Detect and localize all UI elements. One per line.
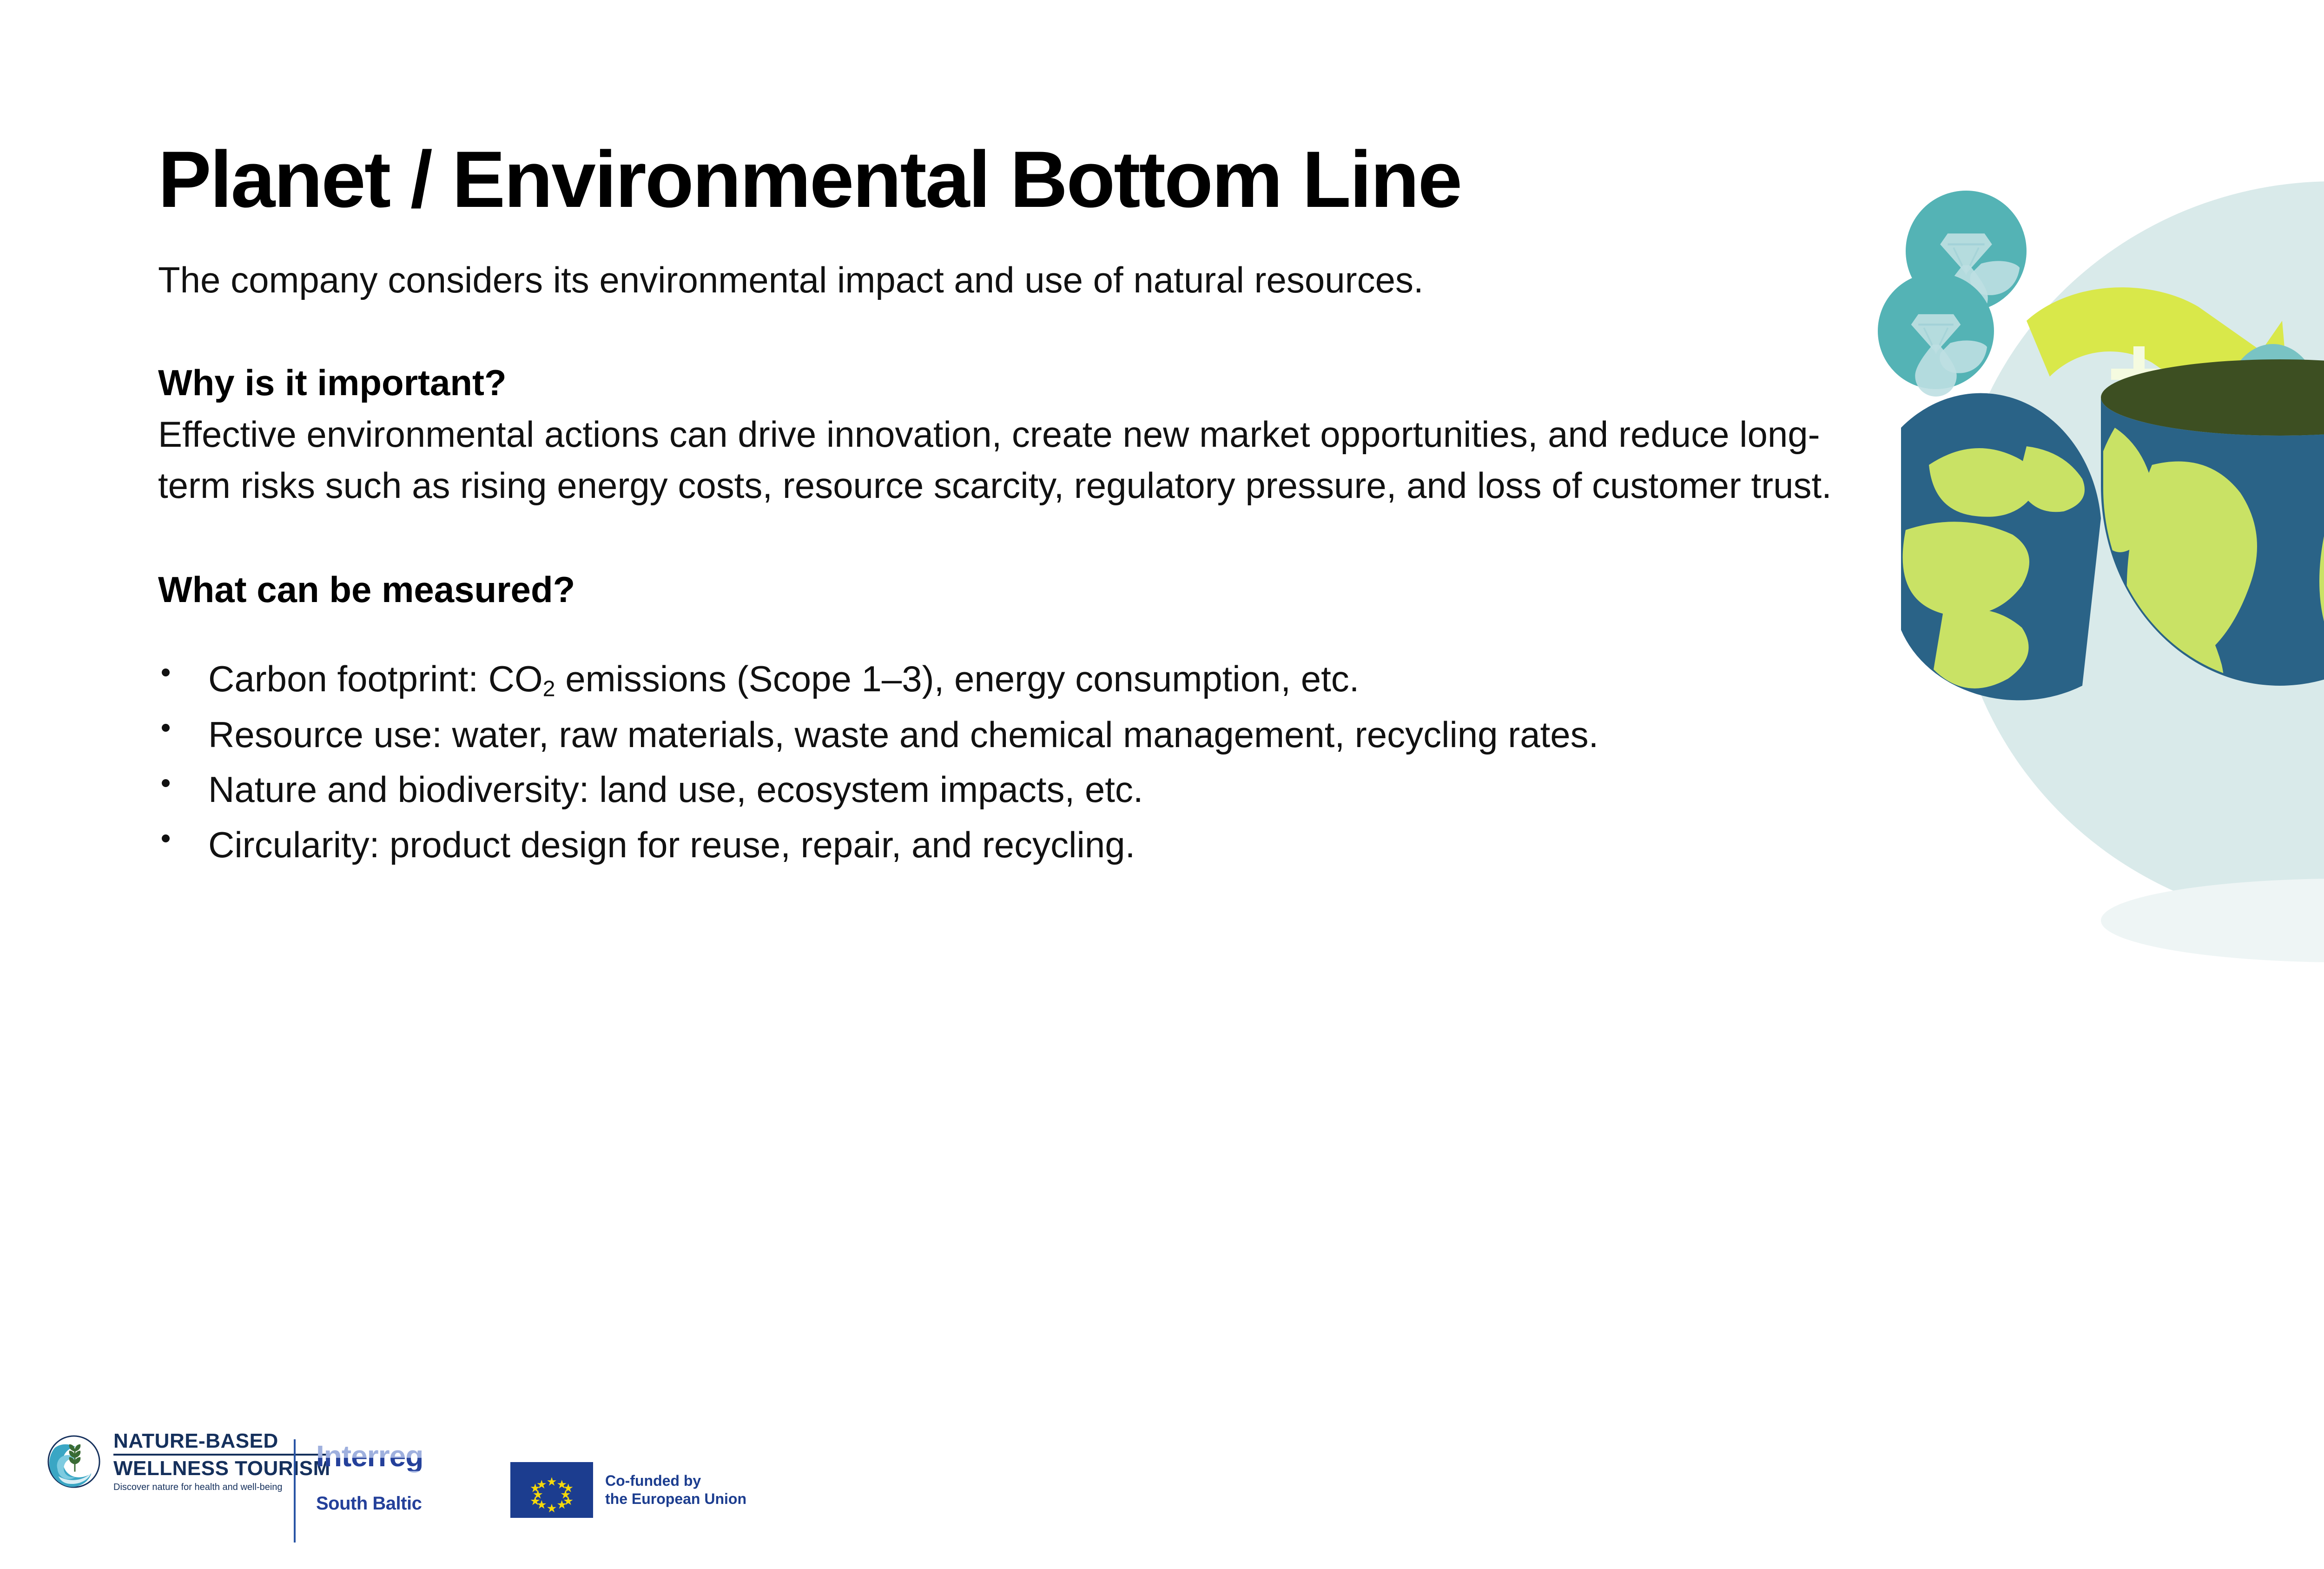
wave-leaf-logo-icon <box>46 1434 101 1489</box>
eu-text-line-1: Co-funded by <box>605 1472 746 1490</box>
bullet-dot-icon <box>162 724 170 732</box>
interreg-wordmark: Interreg Interreg <box>316 1441 469 1474</box>
section-heading-why: Why is it important? <box>158 359 1855 406</box>
bullet-dot-icon <box>162 834 170 842</box>
nbwt-tagline: Discover nature for health and well-bein… <box>113 1483 330 1492</box>
slide-text-column: Planet / Environmental Bottom Line The c… <box>158 139 1855 874</box>
page-title: Planet / Environmental Bottom Line <box>158 139 1855 219</box>
measures-list: Carbon footprint: CO2 emissions (Scope 1… <box>158 653 1855 871</box>
eu-text-line-2: the European Union <box>605 1490 746 1508</box>
eu-cofunding-text: Co-funded by the European Union <box>605 1472 746 1508</box>
bullet-text: Resource use: water, raw materials, wast… <box>208 714 1598 755</box>
interreg-programme-name: South Baltic <box>316 1493 469 1514</box>
eu-flag-icon <box>510 1462 593 1518</box>
bullet-text: Nature and biodiversity: land use, ecosy… <box>208 769 1143 810</box>
list-item: Circularity: product design for reuse, r… <box>158 819 1855 871</box>
nbwt-line-2: WELLNESS TOURISM <box>113 1458 330 1479</box>
bullet-dot-icon <box>162 669 170 676</box>
list-item: Nature and biodiversity: land use, ecosy… <box>158 764 1855 815</box>
nbwt-line-1: NATURE-BASED <box>113 1431 330 1451</box>
bullet-dot-icon <box>162 779 170 787</box>
section-heading-measured: What can be measured? <box>158 566 1855 613</box>
intro-paragraph: The company considers its environmental … <box>158 256 1855 305</box>
nbwt-wordmark: NATURE-BASED WELLNESS TOURISM Discover n… <box>113 1431 330 1492</box>
section-body-why: Effective environmental actions can driv… <box>158 409 1841 511</box>
bullet-text-suffix: emissions (Scope 1–3), energy consumptio… <box>555 658 1360 699</box>
bullet-text: Circularity: product design for reuse, r… <box>208 824 1135 865</box>
slide-footer: NATURE-BASED WELLNESS TOURISM Discover n… <box>0 1413 2324 1569</box>
list-item: Resource use: water, raw materials, wast… <box>158 709 1855 761</box>
footer-vertical-divider <box>294 1439 296 1543</box>
bullet-subscript: 2 <box>543 676 555 702</box>
nbwt-rule-divider <box>113 1454 330 1456</box>
globe-bowl-illustration <box>1873 167 2324 1069</box>
nature-based-wellness-tourism-logo: NATURE-BASED WELLNESS TOURISM Discover n… <box>46 1431 330 1492</box>
ground-shadow <box>2101 879 2324 962</box>
slide-root: Planet / Environmental Bottom Line The c… <box>0 0 2324 1569</box>
eu-cofunding-logo: Co-funded by the European Union <box>510 1462 746 1518</box>
interreg-south-baltic-logo: Interreg Interreg South Baltic <box>316 1441 469 1514</box>
list-item: Carbon footprint: CO2 emissions (Scope 1… <box>158 653 1855 705</box>
bullet-text-prefix: Carbon footprint: CO <box>208 658 543 699</box>
